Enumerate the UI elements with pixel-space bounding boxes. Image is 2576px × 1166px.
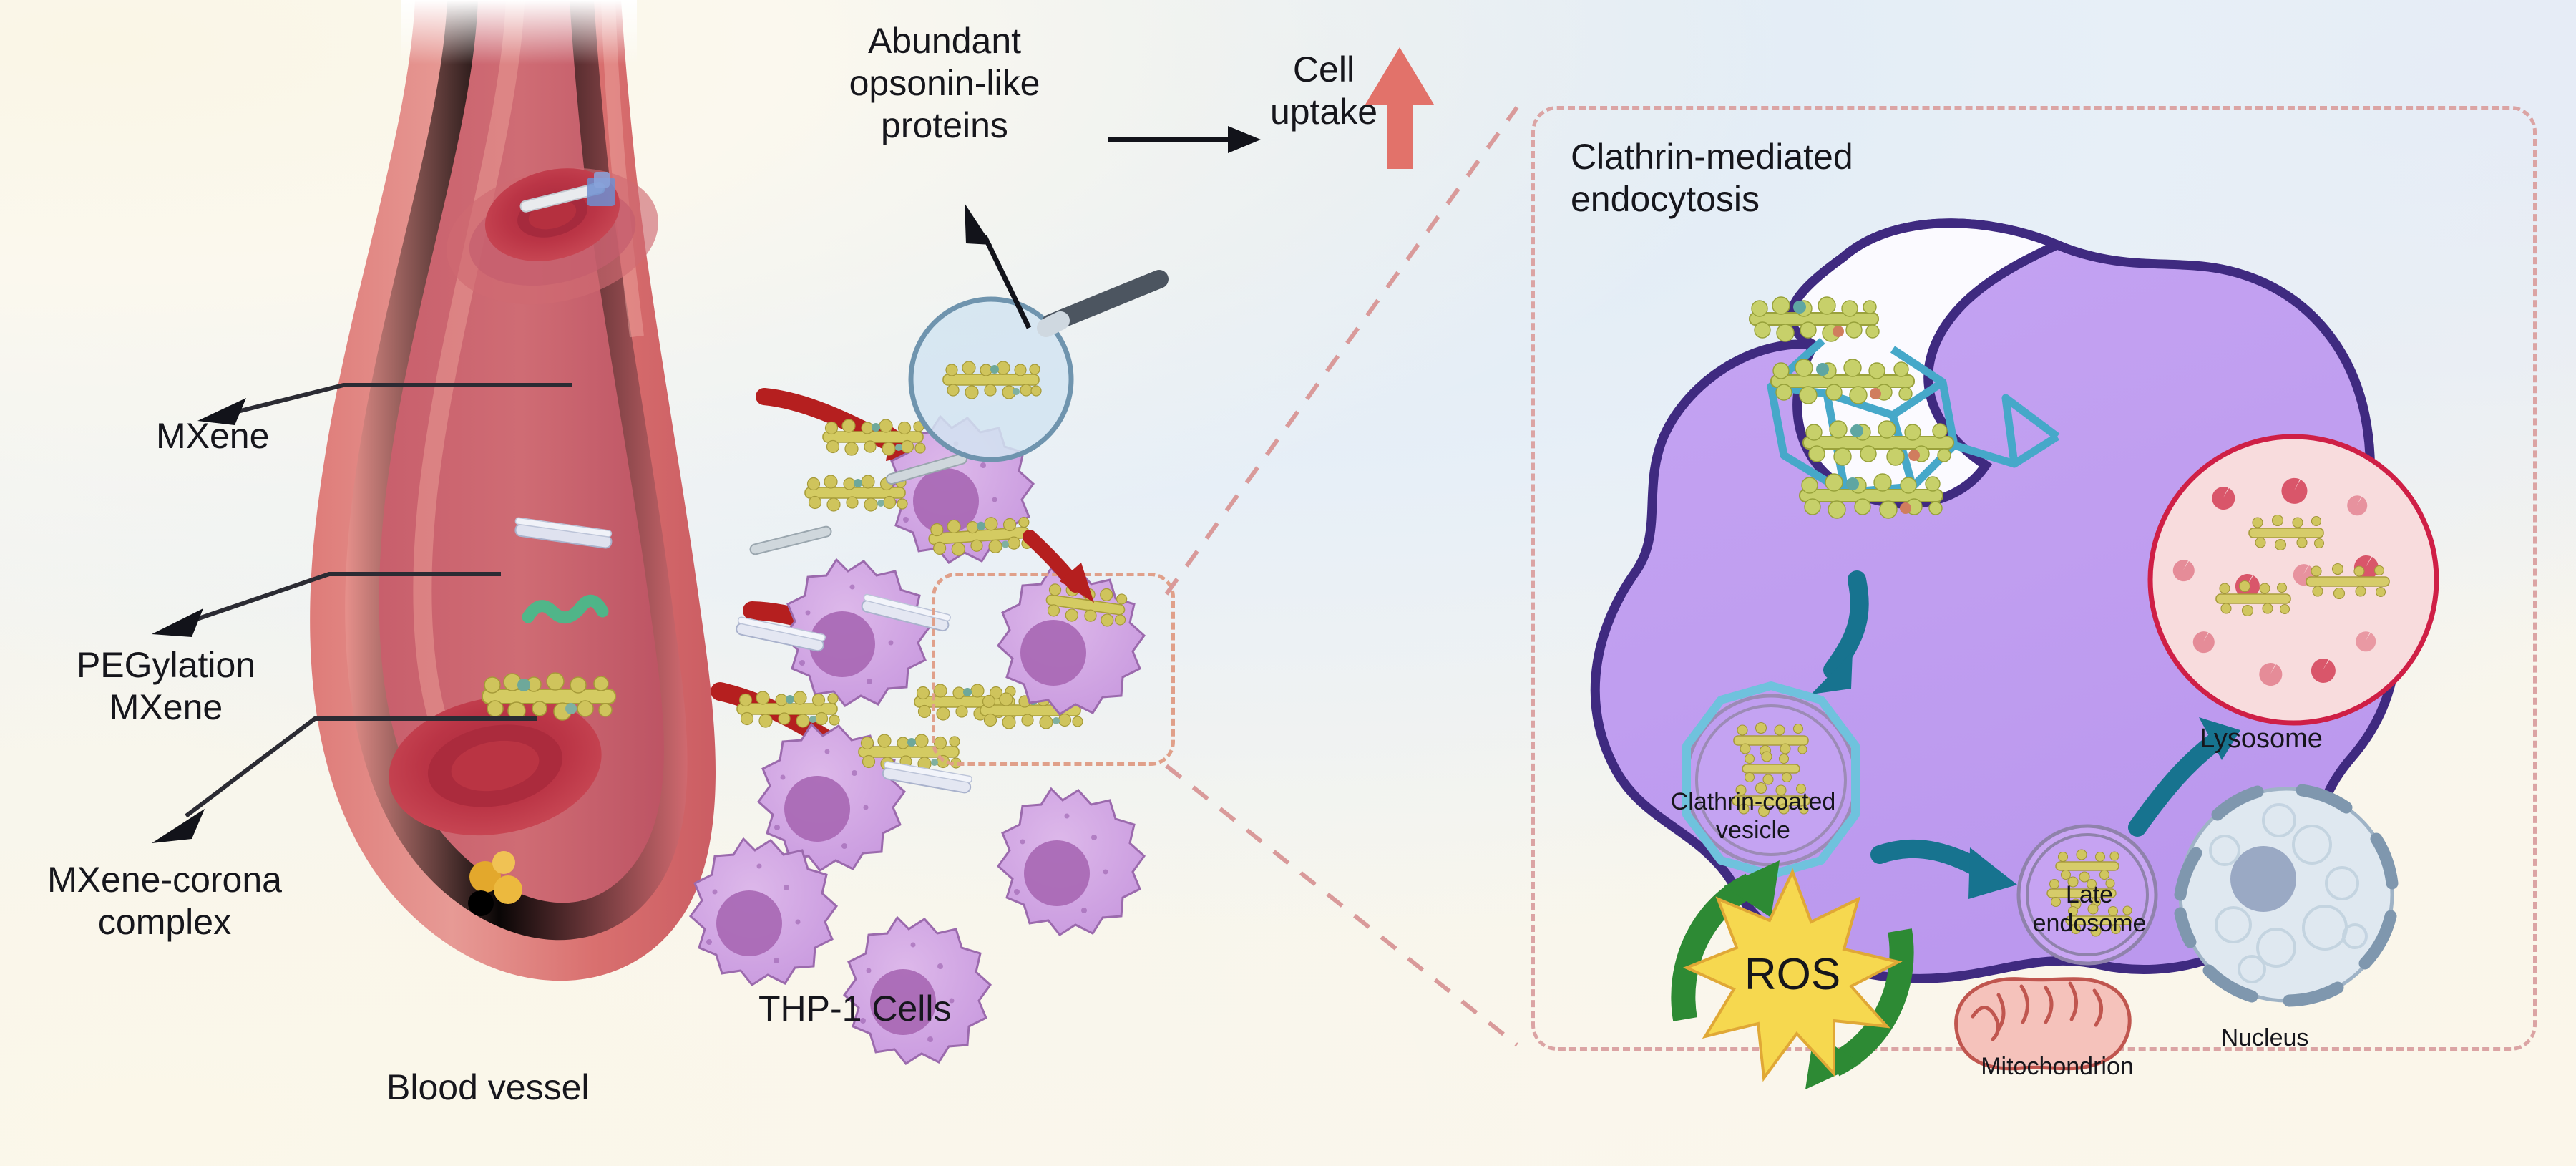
- blood-vessel-label: Blood vessel: [386, 1067, 590, 1109]
- figure-canvas: Abundant opsonin-like proteins Cell upta…: [0, 0, 2576, 1166]
- mxene-corona-complex-label: MXene-corona complex: [14, 859, 315, 943]
- opsonin-proteins-label: Abundant opsonin-like proteins: [809, 20, 1080, 147]
- uptake-into-cell-arrow: [1020, 530, 1134, 623]
- corona-leader-line: [107, 709, 551, 852]
- thp1-cells-label: THP-1 Cells: [758, 988, 951, 1030]
- clathrin-coated-vesicle-label: Clathrin-coated vesicle: [1631, 787, 1875, 845]
- vessel-top-fade: [401, 0, 637, 64]
- nucleus-label: Nucleus: [2175, 1024, 2354, 1052]
- lysosome-label: Lysosome: [2147, 723, 2376, 755]
- thp1-cell: [998, 789, 1144, 935]
- late-endosome-label: Late endosome: [1996, 880, 2182, 938]
- zoom-connector-lines: [1145, 100, 1546, 1052]
- mitochondrion-label: Mitochondrion: [1932, 1052, 2182, 1081]
- nucleolus: [2230, 846, 2296, 912]
- magnifier-callout-arrow: [952, 200, 1066, 336]
- peg-mxene-leader-line: [114, 565, 515, 644]
- lysosome: [2150, 437, 2436, 723]
- mxene-label: MXene: [156, 415, 269, 457]
- clathrin-coated-vesicle: [1687, 686, 1855, 875]
- ros-text: ROS: [1745, 950, 1840, 999]
- nucleus: [2180, 789, 2392, 1001]
